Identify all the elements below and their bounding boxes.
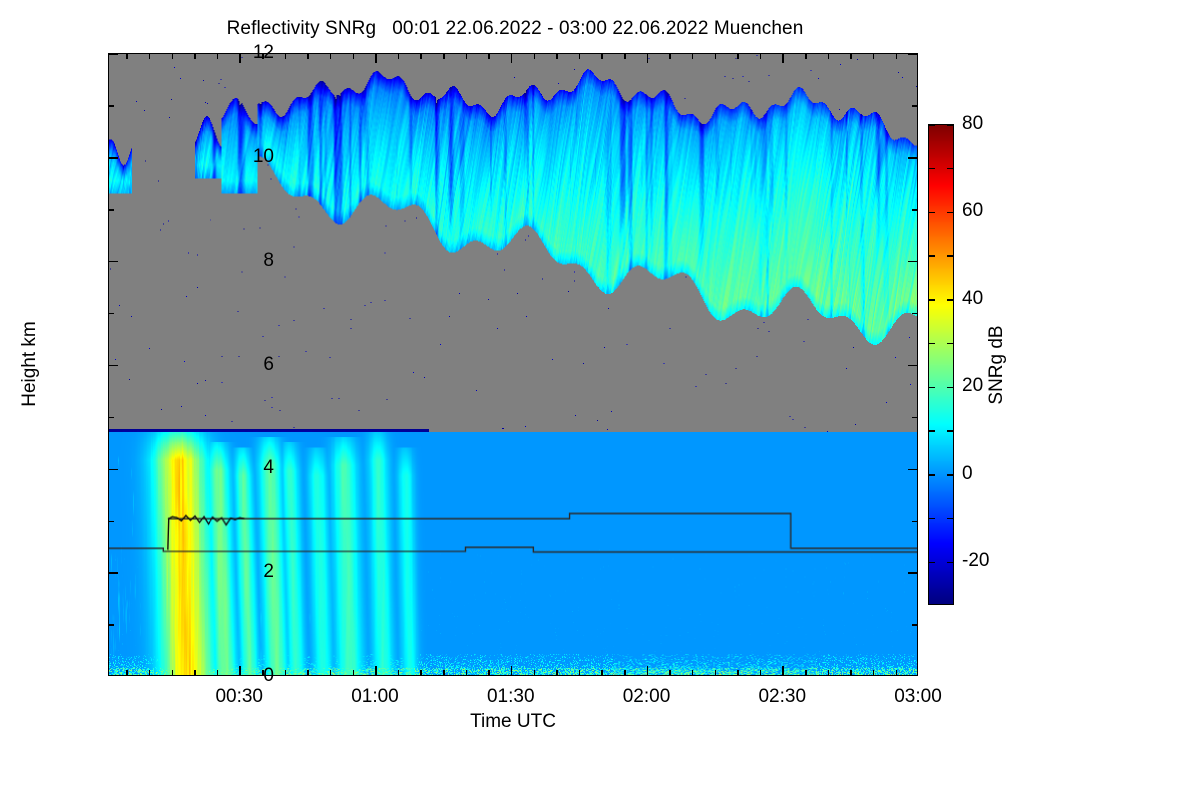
x-tick-top-155 xyxy=(805,54,807,59)
y-tick-right-8 xyxy=(908,261,917,263)
x-tick-125 xyxy=(669,670,671,675)
y-tick-8 xyxy=(109,261,118,263)
radar-figure: Reflectivity SNRg 00:01 22.06.2022 - 03:… xyxy=(0,0,1200,800)
y-tick-11 xyxy=(109,105,114,107)
colorbar-tick-20 xyxy=(947,387,953,389)
x-tick-65 xyxy=(398,670,400,675)
y-tick-label-12: 12 xyxy=(253,42,274,64)
x-tick-top-75 xyxy=(443,54,445,59)
y-tick-right-6 xyxy=(908,365,917,367)
x-tick-40 xyxy=(285,670,287,675)
x-tick-top-130 xyxy=(692,54,694,59)
colorbar-tick--20 xyxy=(947,562,953,564)
x-tick-115 xyxy=(624,670,626,675)
x-tick-175 xyxy=(896,670,898,675)
colorbar-tick-80 xyxy=(929,124,935,126)
x-tick-85 xyxy=(488,670,490,675)
x-tick-165 xyxy=(850,670,852,675)
y-tick-4 xyxy=(109,469,118,471)
colorbar-tick-label-20: 20 xyxy=(962,375,983,397)
x-tick-top-110 xyxy=(601,54,603,59)
colorbar-tick-60 xyxy=(947,212,953,214)
x-tick-60 xyxy=(375,666,377,675)
colorbar-label: SNRg dB xyxy=(986,325,1008,404)
x-tick-160 xyxy=(828,670,830,675)
x-tick-top-45 xyxy=(307,54,309,59)
x-tick-top-115 xyxy=(624,54,626,59)
x-tick-top-95 xyxy=(534,54,536,59)
x-tick-top-90 xyxy=(511,54,513,63)
x-tick-top-60 xyxy=(375,54,377,63)
x-tick-140 xyxy=(737,670,739,675)
x-tick-30 xyxy=(239,666,241,675)
y-tick-6 xyxy=(109,365,118,367)
x-tick-top-145 xyxy=(760,54,762,59)
colorbar-tick-0 xyxy=(947,474,953,476)
colorbar-tick-50 xyxy=(947,255,953,257)
colorbar-tick-30 xyxy=(929,343,935,345)
x-tick-170 xyxy=(873,670,875,675)
x-tick-10 xyxy=(149,670,151,675)
colorbar-tick-label-0: 0 xyxy=(962,463,973,485)
x-tick-top-85 xyxy=(488,54,490,59)
colorbar-tick-70 xyxy=(947,168,953,170)
y-tick-label-0: 0 xyxy=(263,665,274,687)
y-tick-right-7 xyxy=(912,313,917,315)
y-tick-right-3 xyxy=(912,521,917,523)
x-tick-5 xyxy=(126,670,128,675)
x-tick-15 xyxy=(172,670,174,675)
y-tick-right-1 xyxy=(912,624,917,626)
x-tick-top-20 xyxy=(194,54,196,59)
x-tick-top-65 xyxy=(398,54,400,59)
colorbar-tick-40 xyxy=(929,299,935,301)
colorbar-tick--20 xyxy=(929,562,935,564)
colorbar-tick-10 xyxy=(929,430,935,432)
y-tick-label-8: 8 xyxy=(263,250,274,272)
colorbar-tick--10 xyxy=(929,518,935,520)
y-axis-label: Height km xyxy=(19,321,41,407)
colorbar-tick-label-80: 80 xyxy=(962,113,983,135)
colorbar-tick-label--20: -20 xyxy=(962,550,989,572)
y-tick-label-10: 10 xyxy=(253,146,274,168)
x-tick-top-70 xyxy=(420,54,422,59)
x-tick-105 xyxy=(579,670,581,675)
y-tick-right-12 xyxy=(908,53,917,55)
x-tick-150 xyxy=(782,666,784,675)
colorbar-tick-10 xyxy=(947,430,953,432)
x-tick-70 xyxy=(420,670,422,675)
x-tick-top-5 xyxy=(126,54,128,59)
x-tick-top-165 xyxy=(850,54,852,59)
x-tick-130 xyxy=(692,670,694,675)
colorbar-tick-40 xyxy=(947,299,953,301)
plot-area[interactable] xyxy=(108,53,918,676)
x-tick-155 xyxy=(805,670,807,675)
colorbar-tick-20 xyxy=(929,387,935,389)
colorbar-tick-70 xyxy=(929,168,935,170)
x-tick-90 xyxy=(511,666,513,675)
x-tick-top-150 xyxy=(782,54,784,63)
colorbar-gradient xyxy=(929,125,953,604)
y-tick-label-4: 4 xyxy=(263,457,274,479)
x-tick-label-01-30: 01:30 xyxy=(487,686,535,708)
x-tick-20 xyxy=(194,670,196,675)
colorbar-tick-50 xyxy=(929,255,935,257)
y-tick-9 xyxy=(109,209,114,211)
x-tick-top-40 xyxy=(285,54,287,59)
x-tick-135 xyxy=(715,670,717,675)
x-tick-label-00-30: 00:30 xyxy=(215,686,263,708)
x-tick-80 xyxy=(466,670,468,675)
reflectivity-heatmap-canvas[interactable] xyxy=(109,54,917,675)
y-tick-label-6: 6 xyxy=(263,354,274,376)
x-tick-110 xyxy=(601,670,603,675)
colorbar[interactable] xyxy=(928,124,954,605)
x-tick-45 xyxy=(307,670,309,675)
colorbar-tick-0 xyxy=(929,474,935,476)
y-tick-label-2: 2 xyxy=(263,561,274,583)
y-tick-right-11 xyxy=(912,105,917,107)
x-tick-75 xyxy=(443,670,445,675)
x-tick-145 xyxy=(760,670,762,675)
x-tick-95 xyxy=(534,670,536,675)
colorbar-tick-label-60: 60 xyxy=(962,200,983,222)
colorbar-tick--10 xyxy=(947,518,953,520)
y-tick-right-9 xyxy=(912,209,917,211)
colorbar-tick-80 xyxy=(947,124,953,126)
x-tick-top-120 xyxy=(647,54,649,63)
y-tick-right-5 xyxy=(912,417,917,419)
x-tick-top-15 xyxy=(172,54,174,59)
y-tick-right-4 xyxy=(908,469,917,471)
x-tick-top-140 xyxy=(737,54,739,59)
x-tick-top-55 xyxy=(353,54,355,59)
y-tick-2 xyxy=(109,572,118,574)
y-tick-right-10 xyxy=(908,157,917,159)
x-tick-label-02-00: 02:00 xyxy=(623,686,671,708)
x-axis-label: Time UTC xyxy=(470,711,556,733)
x-tick-top-50 xyxy=(330,54,332,59)
x-tick-top-100 xyxy=(556,54,558,59)
x-tick-100 xyxy=(556,670,558,675)
colorbar-tick-60 xyxy=(929,212,935,214)
x-tick-top-170 xyxy=(873,54,875,59)
y-tick-1 xyxy=(109,624,114,626)
x-tick-top-105 xyxy=(579,54,581,59)
x-tick-55 xyxy=(353,670,355,675)
y-tick-3 xyxy=(109,521,114,523)
x-tick-top-10 xyxy=(149,54,151,59)
y-tick-right-2 xyxy=(908,572,917,574)
page-title: Reflectivity SNRg 00:01 22.06.2022 - 03:… xyxy=(0,18,1030,40)
y-tick-5 xyxy=(109,417,114,419)
x-tick-top-135 xyxy=(715,54,717,59)
x-tick-25 xyxy=(217,670,219,675)
x-tick-label-01-00: 01:00 xyxy=(351,686,399,708)
x-tick-top-30 xyxy=(239,54,241,63)
x-tick-50 xyxy=(330,670,332,675)
colorbar-tick-30 xyxy=(947,343,953,345)
y-tick-7 xyxy=(109,313,114,315)
x-tick-top-80 xyxy=(466,54,468,59)
x-tick-120 xyxy=(647,666,649,675)
y-tick-10 xyxy=(109,157,118,159)
x-tick-top-160 xyxy=(828,54,830,59)
colorbar-tick-label-40: 40 xyxy=(962,288,983,310)
x-tick-top-25 xyxy=(217,54,219,59)
x-tick-label-03-00: 03:00 xyxy=(894,686,942,708)
y-tick-12 xyxy=(109,53,118,55)
x-tick-top-175 xyxy=(896,54,898,59)
x-tick-top-125 xyxy=(669,54,671,59)
x-tick-label-02-30: 02:30 xyxy=(758,686,806,708)
